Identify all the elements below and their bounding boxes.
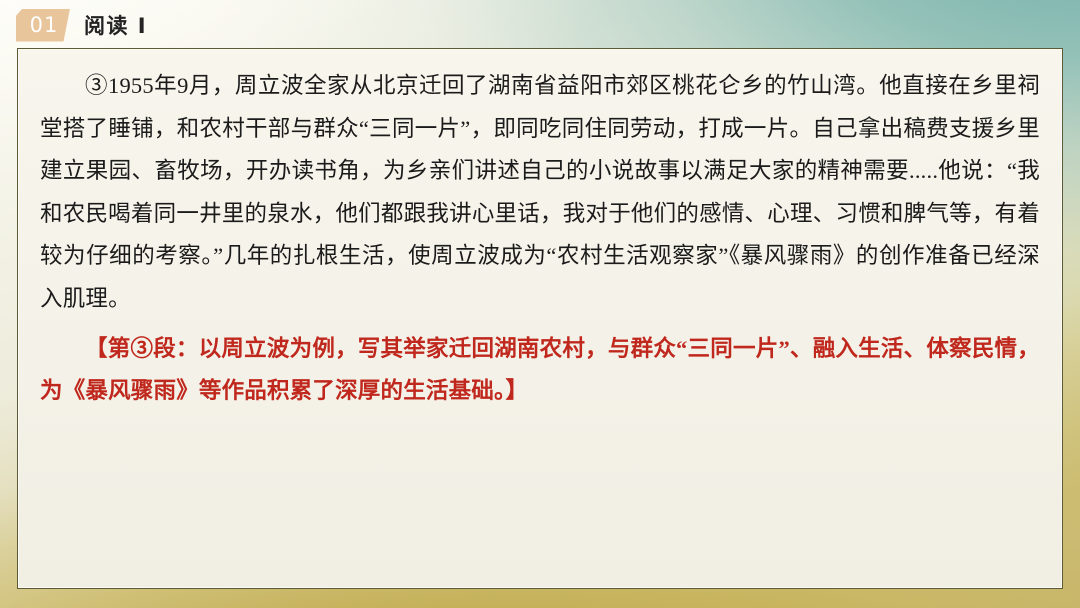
reading-passage-paragraph: ③1955年9月，周立波全家从北京迁回了湖南省益阳市郊区桃花仑乡的竹山湾。他直接… <box>40 65 1040 320</box>
content-frame: ③1955年9月，周立波全家从北京迁回了湖南省益阳市郊区桃花仑乡的竹山湾。他直接… <box>17 48 1063 589</box>
section-number-badge: 01 <box>16 9 70 42</box>
slide-header: 01 阅读 I <box>16 8 147 42</box>
paragraph-annotation: 【第③段：以周立波为例，写其举家迁回湖南农村，与群众“三同一片”、融入生活、体察… <box>40 328 1040 412</box>
text-area: ③1955年9月，周立波全家从北京迁回了湖南省益阳市郊区桃花仑乡的竹山湾。他直接… <box>18 49 1062 412</box>
slide-canvas: 01 阅读 I ③1955年9月，周立波全家从北京迁回了湖南省益阳市郊区桃花仑乡… <box>0 0 1080 608</box>
page-title: 阅读 I <box>84 10 147 40</box>
